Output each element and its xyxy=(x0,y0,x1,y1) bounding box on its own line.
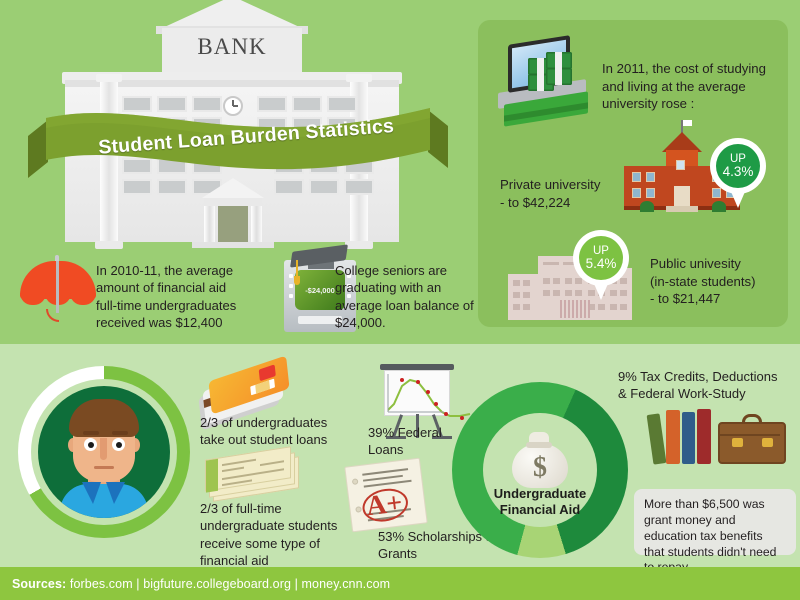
grant-money-callout: More than $6,500 was grant money and edu… xyxy=(634,489,796,555)
sources-text: Sources: forbes.com | bigfuture.collegeb… xyxy=(0,577,390,591)
badge-private-university: UP 4.3% xyxy=(710,138,766,210)
briefcase-icon xyxy=(718,414,786,464)
financial-aid-donut-chart: $ Undergraduate Financial Aid xyxy=(452,382,628,558)
laptop-money-icon xyxy=(498,40,594,130)
credit-cards-icon xyxy=(200,362,300,418)
cheque-icon xyxy=(205,453,305,501)
student-avatar xyxy=(18,366,190,538)
badge-value: 4.3% xyxy=(723,165,754,179)
avatar-portrait xyxy=(38,386,170,518)
private-university-line1: Private university xyxy=(500,176,650,194)
atm-screen-amount: -$24,000 xyxy=(305,286,335,295)
badge-value: 5.4% xyxy=(586,257,617,271)
average-loan-balance-text: College seniors are graduating with an a… xyxy=(335,262,480,332)
title-ribbon: Student Loan Burden Statistics xyxy=(28,100,448,178)
bank-steps xyxy=(192,242,274,248)
public-university-line2: (in-state students) xyxy=(650,273,790,291)
books-icon xyxy=(650,408,718,464)
fulltime-receive-aid-text: 2/3 of full-time undergraduate students … xyxy=(200,500,360,570)
cost-intro-text: In 2011, the cost of studying and living… xyxy=(602,60,780,113)
donut-label-line1: Undergraduate xyxy=(452,486,628,502)
tax-credits-text: 9% Tax Credits, Deductions & Federal Wor… xyxy=(618,368,788,403)
undergraduates-take-loans-text: 2/3 of undergraduates take out student l… xyxy=(200,414,350,449)
donut-center-label: Undergraduate Financial Aid xyxy=(452,486,628,519)
public-university-line3: - to $21,447 xyxy=(650,290,790,308)
financial-aid-average-text: In 2010-11, the average amount of financ… xyxy=(96,262,246,332)
sources-list: forbes.com | bigfuture.collegeboard.org … xyxy=(70,577,390,591)
private-university-line2: - to $42,224 xyxy=(500,194,650,212)
donut-label-line2: Financial Aid xyxy=(452,502,628,518)
aplus-paper-icon: A+ xyxy=(344,458,427,533)
infographic-canvas: BANK xyxy=(0,0,800,600)
bank-entrance-porch xyxy=(202,178,264,244)
umbrella-icon xyxy=(20,255,96,327)
public-university-line1: Public univesity xyxy=(650,255,790,273)
money-bag-icon: $ xyxy=(510,428,570,488)
public-university-label: Public univesity (in-state students) - t… xyxy=(650,255,790,308)
private-university-label: Private university - to $42,224 xyxy=(500,176,650,211)
badge-public-university: UP 5.4% xyxy=(573,230,629,302)
grant-money-callout-text: More than $6,500 was grant money and edu… xyxy=(644,497,786,576)
sources-footer: Sources: forbes.com | bigfuture.collegeb… xyxy=(0,567,800,600)
bank-sign-text: BANK xyxy=(162,34,302,60)
sources-label: Sources: xyxy=(12,577,66,591)
